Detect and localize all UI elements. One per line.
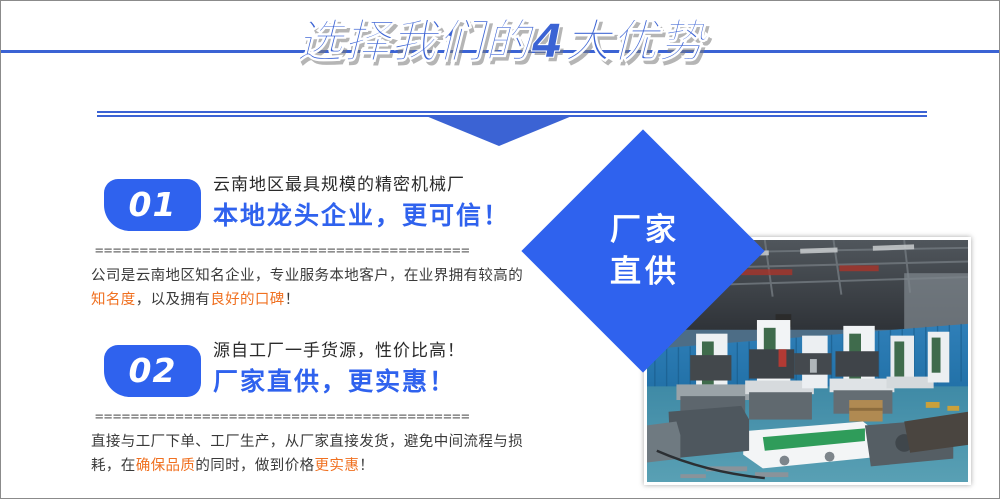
feature-headline: 厂家直供，更实惠！ bbox=[213, 365, 543, 399]
feature-header: 02 源自工厂一手货源，性价比高！ 厂家直供，更实惠！ bbox=[91, 339, 541, 401]
feature-subtitle: 源自工厂一手货源，性价比高！ bbox=[213, 339, 543, 363]
diamond-line-2: 直供 bbox=[606, 251, 680, 293]
advantages-banner: 选择我们的4大优势 01 云南地区最具规模的精密机械厂 本地龙头企业，更可信！ … bbox=[0, 0, 1000, 499]
feature-body-text: 公司是云南地区知名企业，专业服务本地客户，在业界拥有较高的知名度，以及拥有良好的… bbox=[91, 264, 531, 312]
highlighted-phrase: 知名度 bbox=[91, 292, 136, 308]
body-text-run: ！ bbox=[359, 458, 374, 474]
feature-item-01: 01 云南地区最具规模的精密机械厂 本地龙头企业，更可信！ ==========… bbox=[91, 173, 541, 312]
dashed-separator: ========================================… bbox=[95, 411, 535, 424]
feature-header: 01 云南地区最具规模的精密机械厂 本地龙头企业，更可信！ bbox=[91, 173, 541, 235]
feature-number-label: 01 bbox=[104, 179, 201, 231]
feature-item-02: 02 源自工厂一手货源，性价比高！ 厂家直供，更实惠！ ============… bbox=[91, 339, 541, 478]
feature-subtitle: 云南地区最具规模的精密机械厂 bbox=[213, 173, 543, 197]
diamond-line-1: 厂家 bbox=[606, 209, 680, 251]
body-text-run: 公司是云南地区知名企业，专业服务本地客户，在业界拥有较高的 bbox=[91, 268, 523, 284]
feature-headline: 本地龙头企业，更可信！ bbox=[213, 199, 543, 233]
highlighted-phrase: 良好的口碑 bbox=[210, 292, 285, 308]
highlighted-phrase: 更实惠 bbox=[315, 458, 360, 474]
section-divider bbox=[97, 111, 927, 145]
diamond-badge-label: 厂家 直供 bbox=[557, 165, 729, 337]
feature-text-group: 源自工厂一手货源，性价比高！ 厂家直供，更实惠！ bbox=[213, 339, 543, 399]
dashed-separator: ========================================… bbox=[95, 245, 535, 258]
down-triangle-icon bbox=[426, 116, 572, 146]
feature-number-badge: 01 bbox=[104, 179, 201, 231]
feature-body-text: 直接与工厂下单、工厂生产，从厂家直接发货，避免中间流程与损耗，在确保品质的同时，… bbox=[91, 430, 531, 478]
body-text-run: ，以及拥有 bbox=[136, 292, 211, 308]
feature-text-group: 云南地区最具规模的精密机械厂 本地龙头企业，更可信！ bbox=[213, 173, 543, 233]
highlighted-phrase: 确保品质 bbox=[136, 458, 196, 474]
page-title: 选择我们的4大优势 bbox=[1, 8, 1000, 74]
body-text-run: ！ bbox=[285, 292, 300, 308]
header: 选择我们的4大优势 bbox=[1, 1, 999, 97]
body-text-run: 的同时，做到价格 bbox=[195, 458, 314, 474]
feature-number-label: 02 bbox=[104, 345, 201, 397]
features-column: 01 云南地区最具规模的精密机械厂 本地龙头企业，更可信！ ==========… bbox=[1, 151, 561, 496]
feature-number-badge: 02 bbox=[104, 345, 201, 397]
divider-line-top bbox=[97, 111, 927, 113]
